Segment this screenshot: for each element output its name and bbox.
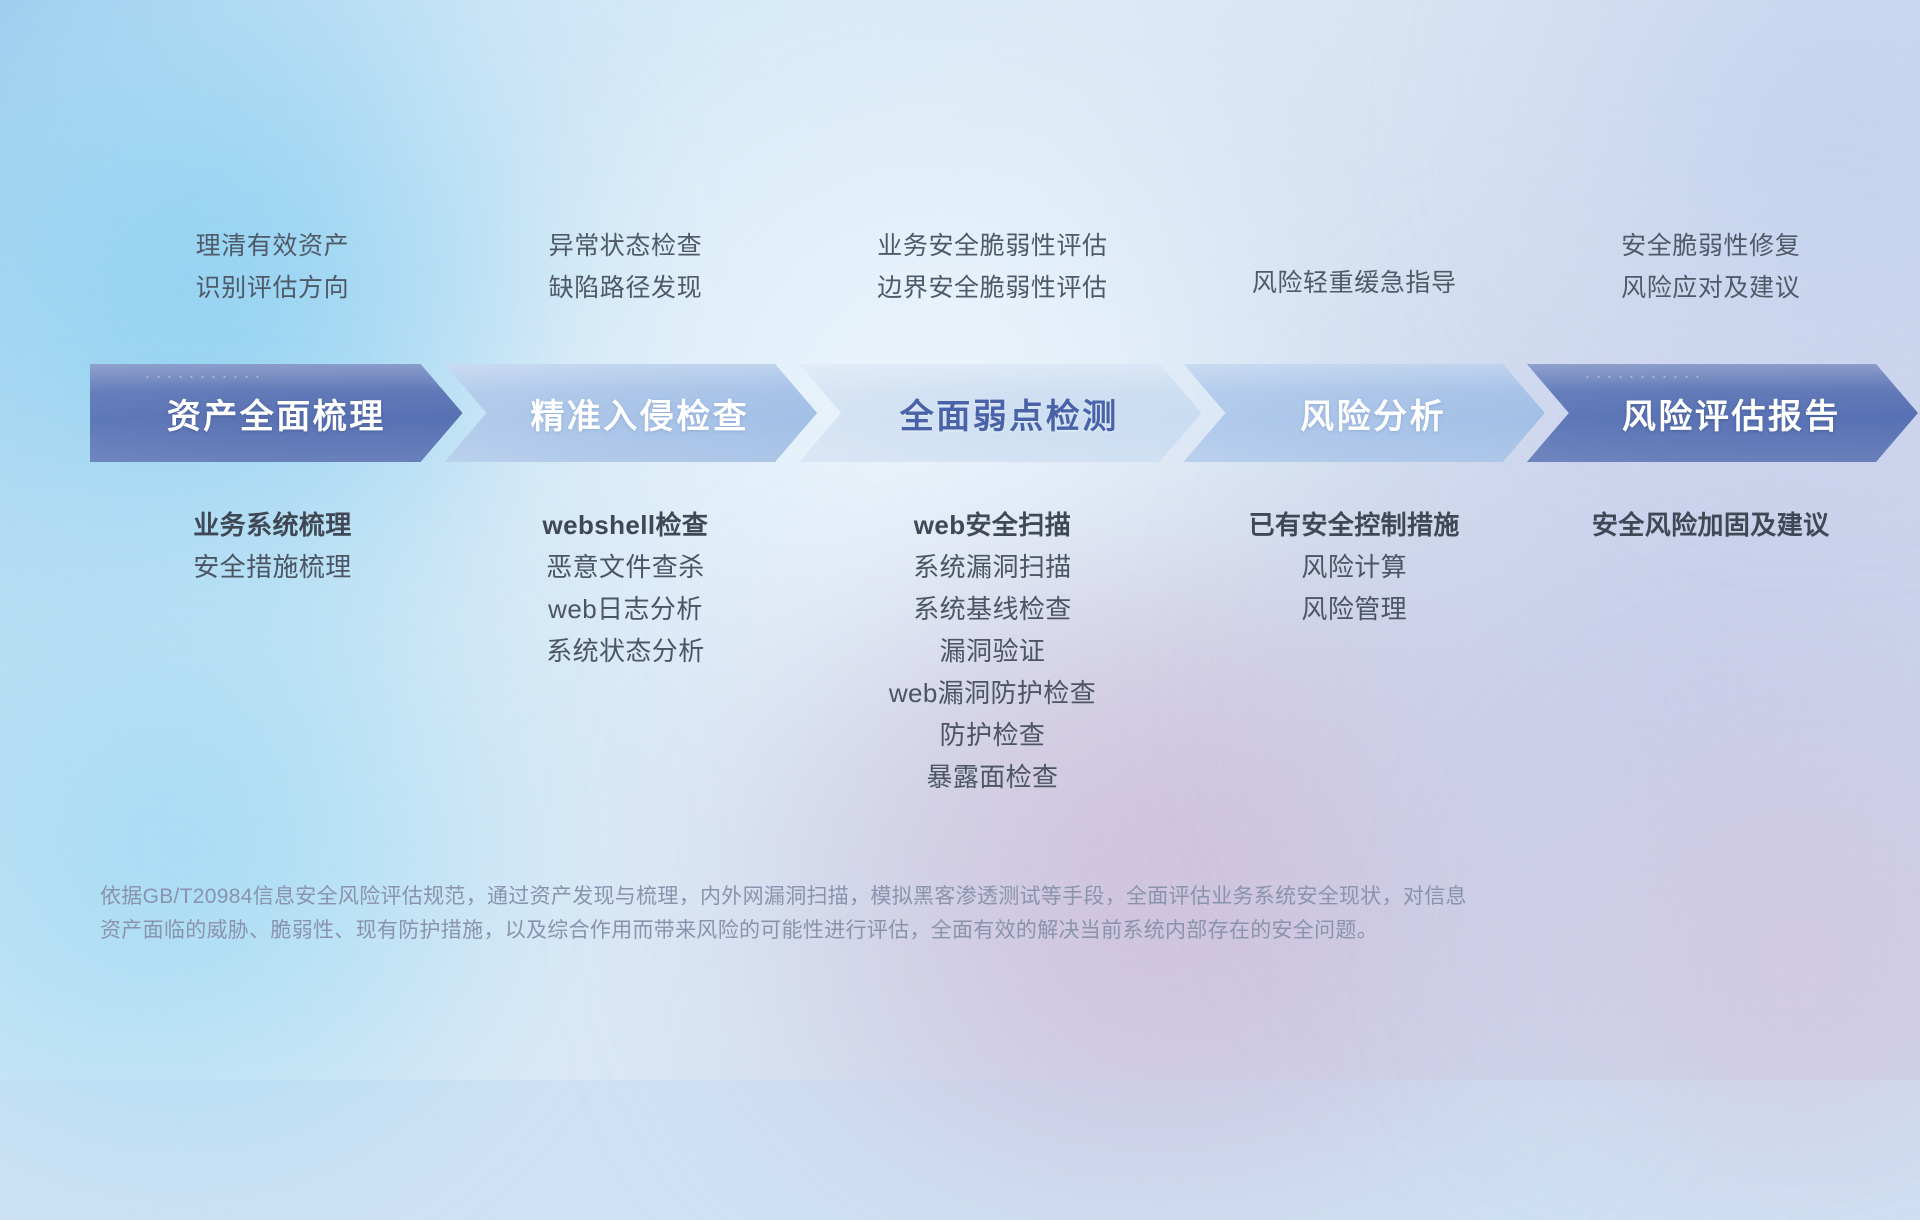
activity-item: 业务系统梳理	[193, 512, 351, 538]
stage-activities-risk-report: 安全风险加固及建议	[1525, 500, 1896, 538]
stage-activities-intrusion-check: webshell检查恶意文件查杀web日志分析系统状态分析	[449, 500, 802, 664]
activity-item: 已有安全控制措施	[1249, 512, 1460, 538]
outcome-item: 风险轻重缓急指导	[1252, 271, 1457, 296]
outcome-item: 理清有效资产	[196, 234, 350, 259]
stage-outcomes-risk-analysis: 风险轻重缓急指导	[1183, 222, 1525, 332]
activity-item: web安全扫描	[914, 512, 1071, 538]
outcome-item: 风险应对及建议	[1621, 276, 1800, 301]
stage-chevron-weakness-detection[interactable]: 全面弱点检测	[799, 364, 1201, 462]
activity-item: 安全风险加固及建议	[1592, 512, 1830, 538]
activity-item: 安全措施梳理	[193, 554, 351, 580]
activity-item: 漏洞验证	[940, 638, 1046, 664]
outcome-item: 缺陷路径发现	[549, 276, 703, 301]
activity-item: 风险计算	[1301, 554, 1407, 580]
activity-item: 系统基线检查	[913, 596, 1071, 622]
outcome-item: 业务安全脆弱性评估	[877, 234, 1107, 259]
stage-chevron-band: 资产全面梳理精准入侵检查全面弱点检测风险分析风险评估报告	[90, 364, 1900, 462]
stage-title: 风险分析	[1282, 389, 1446, 438]
activity-item: 恶意文件查杀	[546, 554, 704, 580]
outcome-item: 边界安全脆弱性评估	[877, 276, 1107, 301]
stage-outcomes-intrusion-check: 异常状态检查缺陷路径发现	[449, 222, 802, 332]
footer-description: 依据GB/T20984信息安全风险评估规范，通过资产发现与梳理，内外网漏洞扫描，…	[100, 880, 1680, 948]
stage-outcomes-asset-inventory: 理清有效资产识别评估方向	[96, 222, 449, 332]
stage-activities-asset-inventory: 业务系统梳理安全措施梳理	[96, 500, 449, 580]
stage-title: 风险评估报告	[1604, 389, 1841, 438]
stage-activities-weakness-detection: web安全扫描系统漏洞扫描系统基线检查漏洞验证web漏洞防护检查防护检查暴露面检…	[802, 500, 1183, 790]
stage-activities-risk-analysis: 已有安全控制措施风险计算风险管理	[1183, 500, 1525, 622]
outcome-item: 安全脆弱性修复	[1621, 234, 1800, 259]
stage-chevron-intrusion-check[interactable]: 精准入侵检查	[445, 364, 818, 462]
activity-item: 防护检查	[940, 722, 1046, 748]
chevron-dot-texture	[142, 373, 262, 381]
stage-chevron-risk-report[interactable]: 风险评估报告	[1527, 364, 1918, 462]
stage-activities-row: 业务系统梳理安全措施梳理webshell检查恶意文件查杀web日志分析系统状态分…	[96, 500, 1896, 840]
footer-line-1: 依据GB/T20984信息安全风险评估规范，通过资产发现与梳理，内外网漏洞扫描，…	[100, 880, 1680, 914]
activity-item: 系统状态分析	[546, 638, 704, 664]
stage-title: 全面弱点检测	[882, 389, 1119, 438]
activity-item: 暴露面检查	[926, 764, 1058, 790]
stage-outcomes-risk-report: 安全脆弱性修复风险应对及建议	[1525, 222, 1896, 332]
chevron-dot-texture	[1582, 373, 1702, 381]
process-diagram: 理清有效资产识别评估方向异常状态检查缺陷路径发现业务安全脆弱性评估边界安全脆弱性…	[0, 0, 1920, 1080]
activity-item: webshell检查	[542, 512, 708, 538]
activity-item: web漏洞防护检查	[889, 680, 1096, 706]
activity-item: 风险管理	[1301, 596, 1407, 622]
activity-item: 系统漏洞扫描	[913, 554, 1071, 580]
stage-outcomes-row: 理清有效资产识别评估方向异常状态检查缺陷路径发现业务安全脆弱性评估边界安全脆弱性…	[96, 222, 1896, 332]
outcome-item: 识别评估方向	[196, 276, 350, 301]
stage-outcomes-weakness-detection: 业务安全脆弱性评估边界安全脆弱性评估	[802, 222, 1183, 332]
stage-title: 精准入侵检查	[512, 389, 749, 438]
stage-chevron-asset-inventory[interactable]: 资产全面梳理	[90, 364, 463, 462]
stage-title: 资产全面梳理	[167, 389, 386, 438]
outcome-item: 异常状态检查	[549, 234, 703, 259]
stage-chevron-risk-analysis[interactable]: 风险分析	[1183, 364, 1544, 462]
footer-line-2: 资产面临的威胁、脆弱性、现有防护措施，以及综合作用而带来风险的可能性进行评估，全…	[100, 914, 1680, 948]
activity-item: web日志分析	[548, 596, 703, 622]
